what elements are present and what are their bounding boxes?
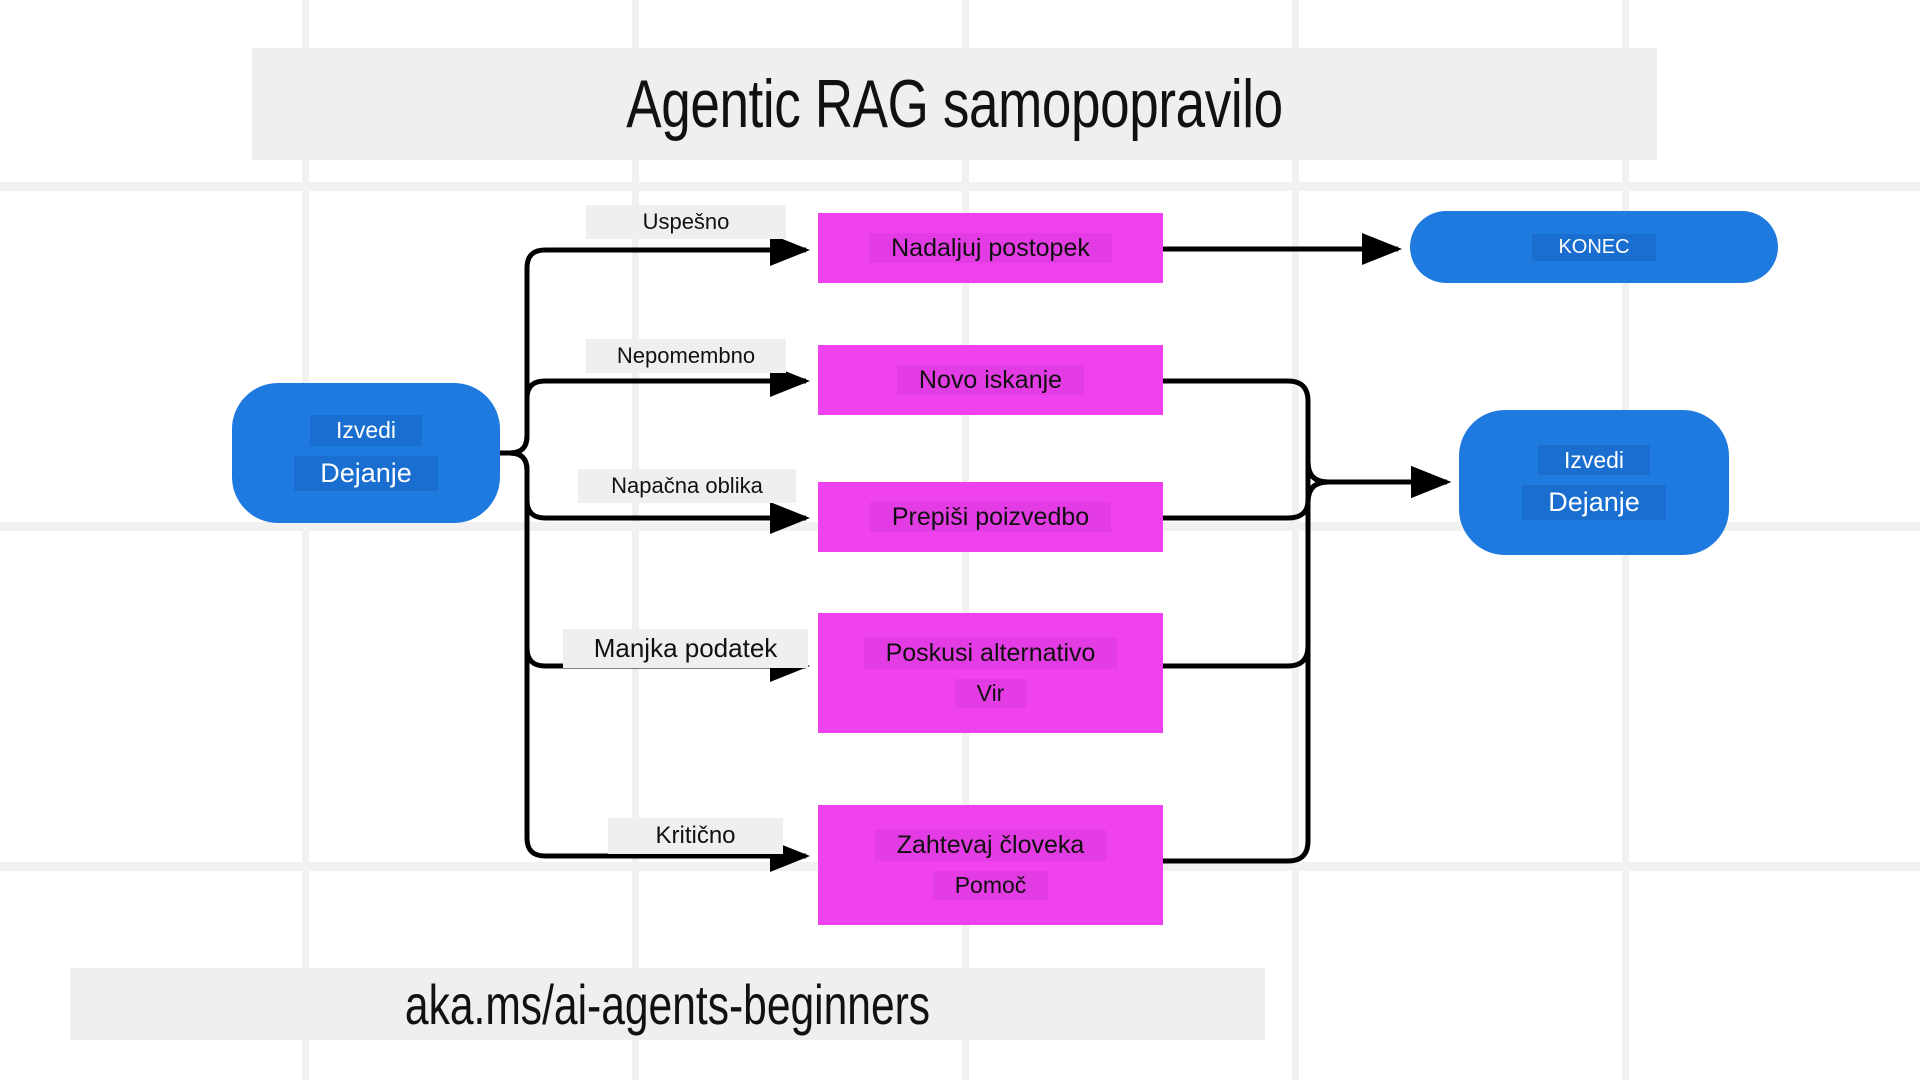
node-human-help-line-1: Zahtevaj človeka — [875, 830, 1107, 861]
edge-new-search-to-retry — [1163, 381, 1447, 482]
edge-label-critical: Kritično — [608, 818, 783, 854]
node-start-line-2: Dejanje — [294, 456, 438, 491]
node-retry-action-line-2: Dejanje — [1522, 485, 1666, 520]
node-rewrite-query-label: Prepiši poizvedbo — [870, 502, 1111, 533]
node-new-search-label: Novo iskanje — [897, 365, 1084, 396]
node-human-help[interactable]: Zahtevaj človeka Pomoč — [818, 805, 1163, 925]
node-new-search[interactable]: Novo iskanje — [818, 345, 1163, 415]
diagram-canvas: Agentic RAG samopopravilo — [0, 0, 1920, 1080]
node-alternative-source-line-2: Vir — [955, 679, 1027, 707]
node-retry-action-line-1: Izvedi — [1538, 445, 1650, 475]
edge-rewrite-to-retry — [1163, 462, 1447, 518]
node-continue[interactable]: Nadaljuj postopek — [818, 213, 1163, 283]
node-rewrite-query[interactable]: Prepiši poizvedbo — [818, 482, 1163, 552]
edge-label-missing-data: Manjka podatek — [563, 629, 808, 668]
footer-url: aka.ms/ai-agents-beginners — [213, 968, 1121, 1040]
node-continue-label: Nadaljuj postopek — [869, 233, 1112, 264]
edge-label-success: Uspešno — [586, 205, 786, 239]
edge-label-irrelevant: Nepomembno — [586, 339, 786, 373]
node-alternative-source-line-1: Poskusi alternativo — [864, 638, 1118, 669]
node-retry-action[interactable]: Izvedi Dejanje — [1459, 410, 1729, 555]
node-human-help-line-2: Pomoč — [933, 871, 1049, 899]
edge-label-wrong-format: Napačna oblika — [578, 469, 796, 503]
node-end[interactable]: KONEC — [1410, 211, 1778, 283]
node-start-line-1: Izvedi — [310, 415, 422, 445]
edge-start-to-new-search — [500, 381, 806, 453]
node-alternative-source[interactable]: Poskusi alternativo Vir — [818, 613, 1163, 733]
node-start[interactable]: Izvedi Dejanje — [232, 383, 500, 523]
node-end-label: KONEC — [1532, 234, 1655, 261]
edge-human-help-to-retry — [1163, 482, 1447, 861]
